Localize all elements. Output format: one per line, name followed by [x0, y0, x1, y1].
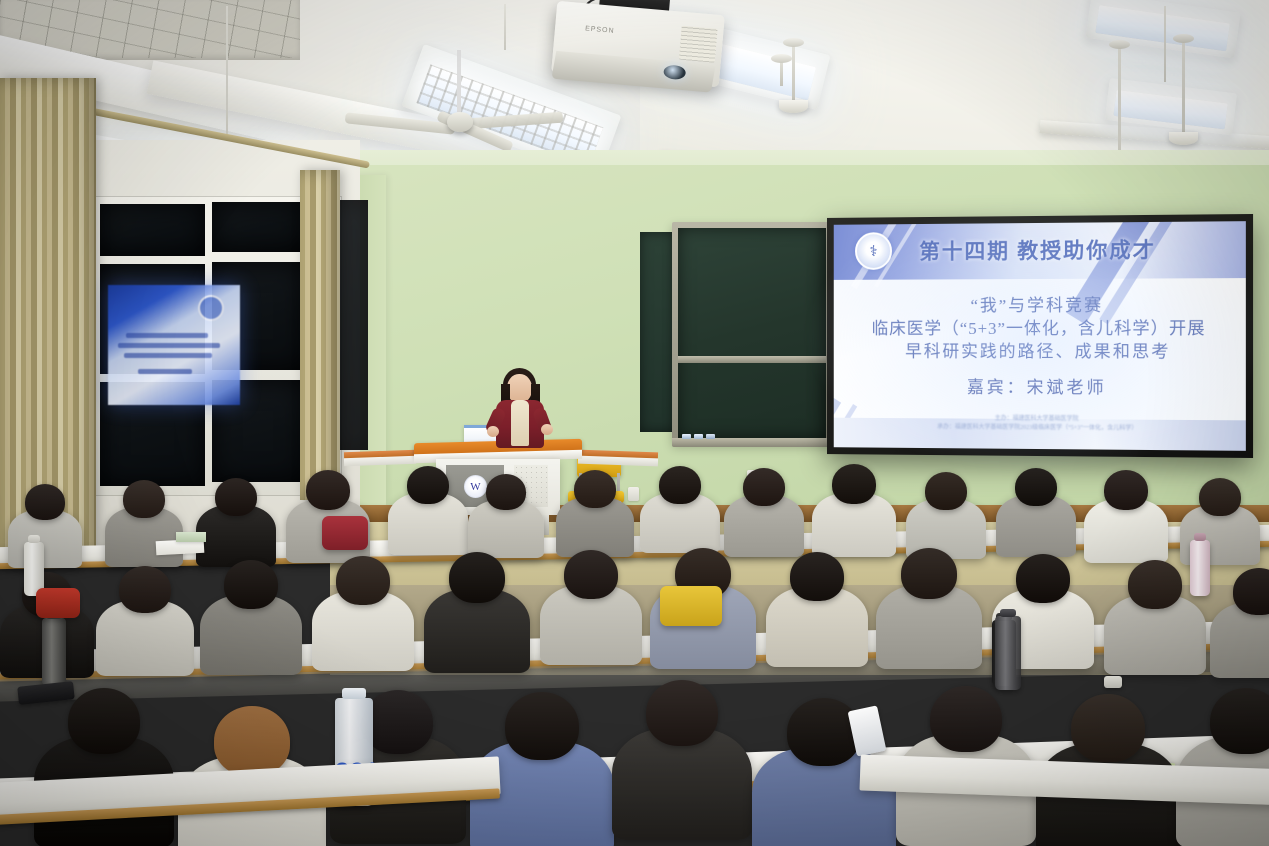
- audience-member-head: [505, 692, 579, 760]
- audience-member-head: [787, 698, 861, 766]
- audience-member: [96, 566, 194, 689]
- audience-member: [34, 688, 174, 846]
- audience-member-head: [214, 706, 290, 776]
- handbag[interactable]: [322, 516, 368, 550]
- audience-member: [1210, 568, 1269, 691]
- audience-member-head: [25, 484, 65, 520]
- blackboard-surface: [678, 228, 826, 438]
- audience-member-head: [564, 550, 618, 599]
- pendant-rod: [792, 44, 795, 104]
- audience-member: [200, 560, 302, 689]
- audience-member-head: [1104, 470, 1148, 510]
- slide-footer: 主办：福建医科大学基础医学院 承办：福建医科大学基础医学院2023级临床医学（“…: [834, 414, 1246, 435]
- audience-member-head: [1071, 694, 1145, 762]
- window-slide-reflection: [108, 285, 240, 405]
- audience-member-head: [224, 560, 278, 609]
- ceiling-projector: EPSON: [551, 1, 725, 87]
- slide-body: “我”与学科竞赛 临床医学（“5+3”一体化，含儿科学）开展 早科研实践的路径、…: [834, 294, 1246, 364]
- handbag[interactable]: [36, 588, 80, 618]
- reflection-text-line: [124, 353, 212, 358]
- audience-member: [612, 680, 752, 846]
- audience-member-head: [1016, 554, 1070, 603]
- reflection-text-line: [138, 369, 192, 374]
- reflection-text-line: [118, 343, 220, 348]
- reflection-text-line: [126, 333, 208, 338]
- light-suspension-rod: [1164, 6, 1166, 82]
- projection-screen: ⚕ 第十四期 教授助你成才 “我”与学科竞赛 临床医学（“5+3”一体化，含儿科…: [827, 214, 1253, 458]
- audience-member-head: [1128, 560, 1182, 609]
- audience-member: [876, 548, 982, 683]
- rear-doorway: [340, 200, 368, 450]
- audience-member: [996, 468, 1076, 568]
- water-bottle[interactable]: [1190, 540, 1210, 596]
- presenter: [489, 368, 553, 446]
- audience-member-head: [925, 472, 967, 510]
- audience-member-head: [123, 480, 165, 518]
- clear-water-bottle[interactable]: [995, 616, 1021, 690]
- light-suspension-rod: [504, 4, 506, 50]
- presentation-slide: ⚕ 第十四期 教授助你成才 “我”与学科竞赛 临床医学（“5+3”一体化，含儿科…: [834, 221, 1246, 451]
- backpack[interactable]: [660, 586, 722, 626]
- light-suspension-rod: [226, 6, 228, 144]
- audience-member-head: [790, 552, 844, 601]
- audience-member-head: [743, 468, 785, 506]
- audience-member: [8, 484, 82, 578]
- audience-member-head: [901, 548, 957, 599]
- audience-member-head: [574, 470, 616, 508]
- audience-member: [1084, 470, 1168, 574]
- lecture-hall-photo: EPSON: [0, 0, 1269, 846]
- audience-member-head: [449, 552, 505, 603]
- audience-member-head: [68, 688, 140, 754]
- audience-member-head: [659, 466, 701, 504]
- audience-member: [105, 480, 183, 578]
- pendant-rod: [1182, 40, 1185, 136]
- pendant-rod: [780, 60, 783, 86]
- slide-series-title: 第十四期 教授助你成才: [834, 233, 1246, 266]
- audience-member: [424, 552, 530, 687]
- chalk-piece[interactable]: [694, 434, 703, 439]
- presenter-hand: [541, 424, 553, 435]
- audience-member-head: [306, 470, 350, 510]
- window-glass: [212, 202, 304, 252]
- audience-member-head: [1233, 568, 1269, 615]
- chalk-piece[interactable]: [682, 434, 691, 439]
- audience-member-head: [832, 464, 876, 504]
- slide-body-line-1: “我”与学科竞赛: [834, 294, 1246, 318]
- audience-member: [766, 552, 868, 681]
- slide-body-line-3: 早科研实践的路径、成果和思考: [834, 341, 1246, 364]
- audience-member-head: [486, 474, 526, 510]
- audience-member: [540, 550, 642, 679]
- audience-member-head: [646, 680, 718, 746]
- audience-member: [312, 556, 414, 685]
- audience-member-head: [336, 556, 390, 605]
- audience-member: [388, 466, 468, 566]
- presenter-hand: [487, 426, 499, 437]
- blackboard-divider: [678, 356, 826, 363]
- slide-guest-line: 嘉宾：宋斌老师: [834, 372, 1246, 399]
- audience-member-head: [1210, 688, 1269, 754]
- reflection-emblem: [198, 295, 224, 321]
- audience-member-head: [407, 466, 449, 504]
- audience-member-head: [1199, 478, 1241, 516]
- presenter-head: [507, 374, 532, 403]
- chalk-piece[interactable]: [706, 434, 715, 439]
- audience-member-head: [930, 686, 1002, 752]
- audience-member-head: [119, 566, 171, 613]
- blackboard: [672, 222, 832, 444]
- projector-vent: [679, 26, 718, 63]
- audience-member-head: [215, 478, 257, 516]
- ceiling-fan: [395, 92, 555, 148]
- audience-area: COA: [0, 440, 1269, 846]
- slide-body-line-2: 临床医学（“5+3”一体化，含儿科学）开展: [834, 318, 1246, 341]
- notebook[interactable]: [176, 532, 206, 542]
- audience-member-head: [363, 690, 433, 754]
- thermos-bottle[interactable]: [42, 618, 66, 686]
- blackboard-secondary: [640, 232, 676, 432]
- window-glass: [100, 204, 205, 256]
- smartphone[interactable]: [1104, 676, 1122, 688]
- audience-member-head: [1015, 468, 1057, 506]
